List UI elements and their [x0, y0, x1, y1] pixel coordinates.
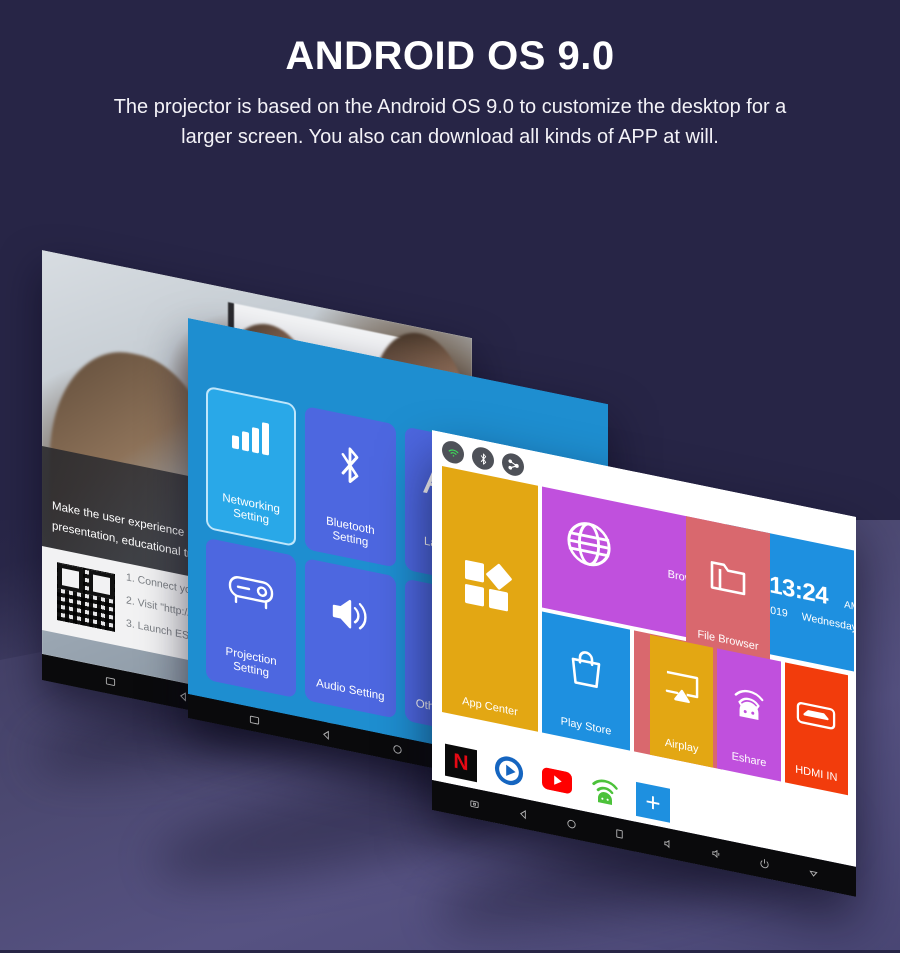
bluetooth-icon	[305, 435, 395, 496]
home-tile-app-center[interactable]: App Center	[442, 466, 538, 732]
home-tile-airplay[interactable]: Airplay	[650, 635, 713, 768]
volume-down-icon	[663, 837, 674, 850]
signal-bars-icon	[208, 410, 294, 462]
shopping-bag-icon	[542, 612, 630, 725]
settings-tile-audio[interactable]: Audio Setting	[305, 558, 395, 719]
power-icon	[759, 857, 770, 870]
settings-tile-projection[interactable]: Projection Setting	[206, 537, 296, 698]
home-icon	[566, 817, 577, 830]
home-tile-eshare[interactable]: Eshare	[717, 648, 780, 781]
qr-code-icon	[54, 558, 118, 635]
home-tile-label: Airplay	[665, 737, 699, 756]
bluetooth-icon[interactable]	[472, 445, 494, 472]
plus-icon: +	[636, 782, 670, 823]
volume-up-icon	[711, 847, 722, 860]
airplay-icon	[650, 635, 713, 742]
recents-icon	[614, 827, 625, 840]
app-center-icon	[442, 466, 538, 706]
settings-tile-label: Audio Setting	[316, 677, 384, 704]
settings-tile-label: Projection Setting	[210, 643, 293, 686]
wifi-icon[interactable]	[442, 439, 464, 466]
folder-icon	[686, 516, 770, 638]
screenshot-icon	[249, 713, 260, 726]
collapse-icon	[808, 867, 819, 880]
back-icon	[518, 807, 529, 820]
settings-tile-label: Bluetooth Setting	[309, 512, 392, 555]
netflix-icon: N	[445, 744, 477, 783]
home-tile-label: Eshare	[732, 750, 767, 769]
settings-tile-label: Networking Setting	[211, 490, 290, 532]
settings-tile-bluetooth[interactable]: Bluetooth Setting	[305, 406, 395, 567]
dock-eshare[interactable]	[588, 772, 622, 813]
dock-youtube[interactable]	[540, 762, 574, 803]
screenshot-icon	[469, 797, 480, 810]
screenshot-icon	[105, 674, 116, 687]
dock-netflix[interactable]: N	[444, 742, 478, 783]
home-tile-label: HDMI IN	[795, 763, 837, 784]
home-tile-hdmi-in[interactable]: HDMI IN	[785, 662, 848, 795]
eshare-wifi-icon	[590, 773, 620, 812]
eshare-android-icon	[717, 648, 780, 755]
speaker-icon	[305, 586, 395, 643]
hdmi-icon	[785, 662, 848, 769]
scene: ANDROID OS 9.0 The projector is based on…	[0, 0, 900, 950]
back-icon	[321, 728, 332, 741]
dock-media-player[interactable]	[492, 752, 526, 793]
dock-add-app[interactable]: +	[636, 782, 670, 823]
youtube-icon	[542, 766, 572, 799]
header: ANDROID OS 9.0 The projector is based on…	[0, 34, 900, 152]
page-subtitle: The projector is based on the Android OS…	[90, 93, 810, 152]
clock-ampm: AM	[844, 599, 854, 613]
page-title: ANDROID OS 9.0	[0, 34, 900, 79]
ethernet-icon[interactable]	[502, 451, 524, 478]
globe-icon	[542, 487, 636, 601]
media-player-icon	[494, 752, 524, 793]
projector-icon	[206, 566, 296, 617]
home-icon	[392, 742, 403, 755]
home-tile-file-browser[interactable]: File Browser	[686, 516, 770, 664]
home-tile-play-store[interactable]: Play Store	[542, 612, 630, 751]
settings-tile-networking[interactable]: Networking Setting	[206, 386, 296, 547]
